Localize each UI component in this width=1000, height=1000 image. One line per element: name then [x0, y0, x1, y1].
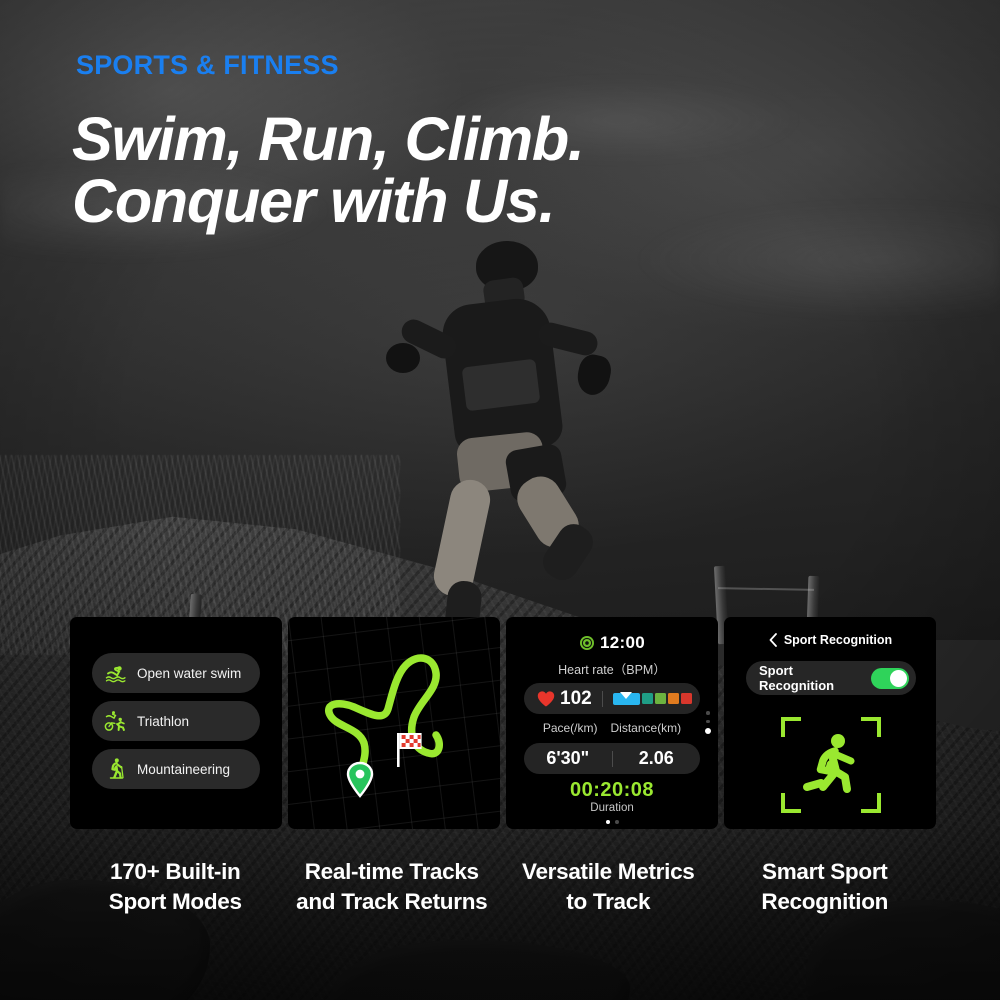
zone-segment-1	[613, 693, 640, 705]
duration-value: 00:20:08	[506, 779, 718, 802]
page-indicator[interactable]	[506, 820, 718, 824]
caption-line-2: Sport Modes	[70, 887, 281, 917]
route-path	[288, 617, 500, 829]
feature-cards: Open water swim Triathlon	[70, 617, 930, 829]
sport-mode-label: Triathlon	[137, 714, 189, 729]
zone-segment-3	[655, 693, 666, 704]
card-sport-recognition: Sport Recognition Sport Recognition	[724, 617, 936, 829]
caption-sport-modes: 170+ Built-in Sport Modes	[70, 857, 281, 917]
pace-distance-labels: Pace(/km) Distance(km)	[506, 721, 718, 735]
sport-mode-label: Mountaineering	[137, 762, 230, 777]
sport-mode-item-open-water-swim[interactable]: Open water swim	[92, 653, 260, 693]
running-person-icon	[797, 731, 865, 799]
scroll-dot	[706, 720, 710, 724]
metrics-time: 12:00	[600, 633, 645, 653]
distance-value: 2.06	[613, 748, 701, 769]
caption-line-1: Versatile Metrics	[503, 857, 714, 887]
card-metrics: 12:00 Heart rate（BPM） 102 Pace(/km) Dist…	[506, 617, 718, 829]
recognition-toggle-switch[interactable]	[871, 668, 909, 689]
caption-metrics: Versatile Metrics to Track	[503, 857, 714, 917]
feature-captions: 170+ Built-in Sport Modes Real-time Trac…	[70, 857, 930, 917]
heart-rate-value: 102	[560, 688, 592, 710]
zone-segment-4	[668, 693, 679, 704]
recognition-header-title: Sport Recognition	[784, 633, 892, 647]
sport-mode-item-triathlon[interactable]: Triathlon	[92, 701, 260, 741]
heart-rate-row[interactable]: 102	[524, 683, 700, 714]
metrics-status-bar: 12:00	[506, 633, 718, 653]
headline-line-2: Conquer with Us.	[72, 170, 772, 232]
recognition-header: Sport Recognition	[724, 633, 936, 647]
page-title: Swim, Run, Climb. Conquer with Us.	[72, 108, 772, 232]
chevron-left-icon[interactable]	[768, 633, 779, 647]
heart-rate-label: Heart rate（BPM）	[506, 659, 718, 678]
pace-label: Pace(/km)	[543, 721, 598, 735]
page-dot-active	[606, 820, 610, 824]
vertical-scroll-indicator[interactable]	[705, 711, 711, 734]
sport-mode-item-mountaineering[interactable]: Mountaineering	[92, 749, 260, 789]
zone-segment-2	[642, 693, 653, 704]
caption-line-2: and Track Returns	[287, 887, 498, 917]
caption-line-1: Smart Sport	[720, 857, 931, 887]
caption-track-map: Real-time Tracks and Track Returns	[287, 857, 498, 917]
scroll-dot-active	[705, 728, 711, 734]
heart-icon	[536, 689, 556, 709]
map-pin-icon	[343, 760, 377, 800]
card-sport-modes: Open water swim Triathlon	[70, 617, 282, 829]
card-track-map	[288, 617, 500, 829]
recognition-toggle-row[interactable]: Sport Recognition	[746, 661, 916, 695]
recognition-toggle-label: Sport Recognition	[759, 663, 871, 693]
sport-mode-list: Open water swim Triathlon	[92, 653, 260, 789]
zone-marker-icon	[620, 692, 632, 699]
caption-recognition: Smart Sport Recognition	[720, 857, 931, 917]
scroll-dot	[706, 711, 710, 715]
caption-line-2: Recognition	[720, 887, 931, 917]
caption-line-1: 170+ Built-in	[70, 857, 281, 887]
distance-label: Distance(km)	[611, 721, 682, 735]
page-dot	[615, 820, 619, 824]
pace-distance-row[interactable]: 6'30" 2.06	[524, 743, 700, 774]
triathlon-icon	[104, 709, 128, 733]
caption-line-1: Real-time Tracks	[287, 857, 498, 887]
eyebrow-label: SPORTS & FITNESS	[76, 50, 339, 81]
zone-segment-5	[681, 693, 692, 704]
open-water-swim-icon	[104, 661, 128, 685]
heart-rate-zone-bar	[613, 693, 692, 705]
headline-line-1: Swim, Run, Climb.	[72, 108, 772, 170]
gps-satellite-icon	[579, 635, 595, 651]
checkered-flag-icon	[393, 729, 429, 771]
duration-label: Duration	[506, 802, 718, 814]
recognition-scan-frame	[781, 717, 881, 813]
mountaineering-icon	[104, 757, 128, 781]
sport-mode-label: Open water swim	[137, 666, 241, 681]
caption-line-2: to Track	[503, 887, 714, 917]
pace-value: 6'30"	[524, 748, 612, 769]
